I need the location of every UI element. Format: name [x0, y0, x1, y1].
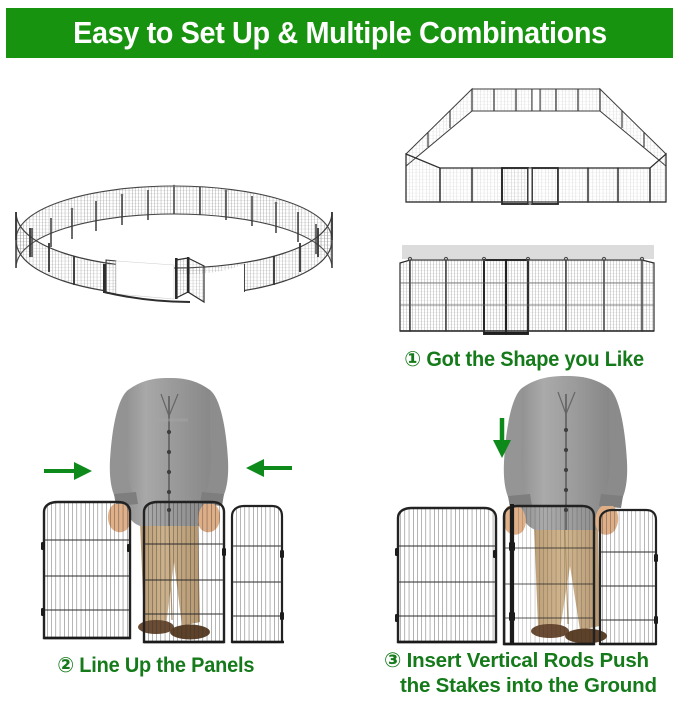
- caption-step-3: ③ Insert Vertical Rods Push the Stakes i…: [384, 648, 676, 698]
- straight-line-playpen-illustration: [388, 243, 676, 335]
- person-inserting-rods-photo: [392, 376, 678, 648]
- header-title: Easy to Set Up & Multiple Combinations: [73, 15, 607, 51]
- infographic-page: Easy to Set Up & Multiple Combinations: [0, 0, 679, 702]
- person-aligning-panels-photo: [22, 376, 334, 648]
- caption-step-3-line-1: ③ Insert Vertical Rods Push: [384, 649, 649, 672]
- header-banner: Easy to Set Up & Multiple Combinations: [6, 8, 673, 58]
- circular-playpen-illustration: [4, 168, 344, 308]
- caption-step-2: ② Line Up the Panels: [57, 653, 254, 678]
- caption-step-3-line-2: the Stakes into the Ground: [384, 673, 676, 698]
- hexagonal-playpen-illustration: [392, 84, 678, 214]
- caption-step-1: ① Got the Shape you Like: [404, 347, 644, 372]
